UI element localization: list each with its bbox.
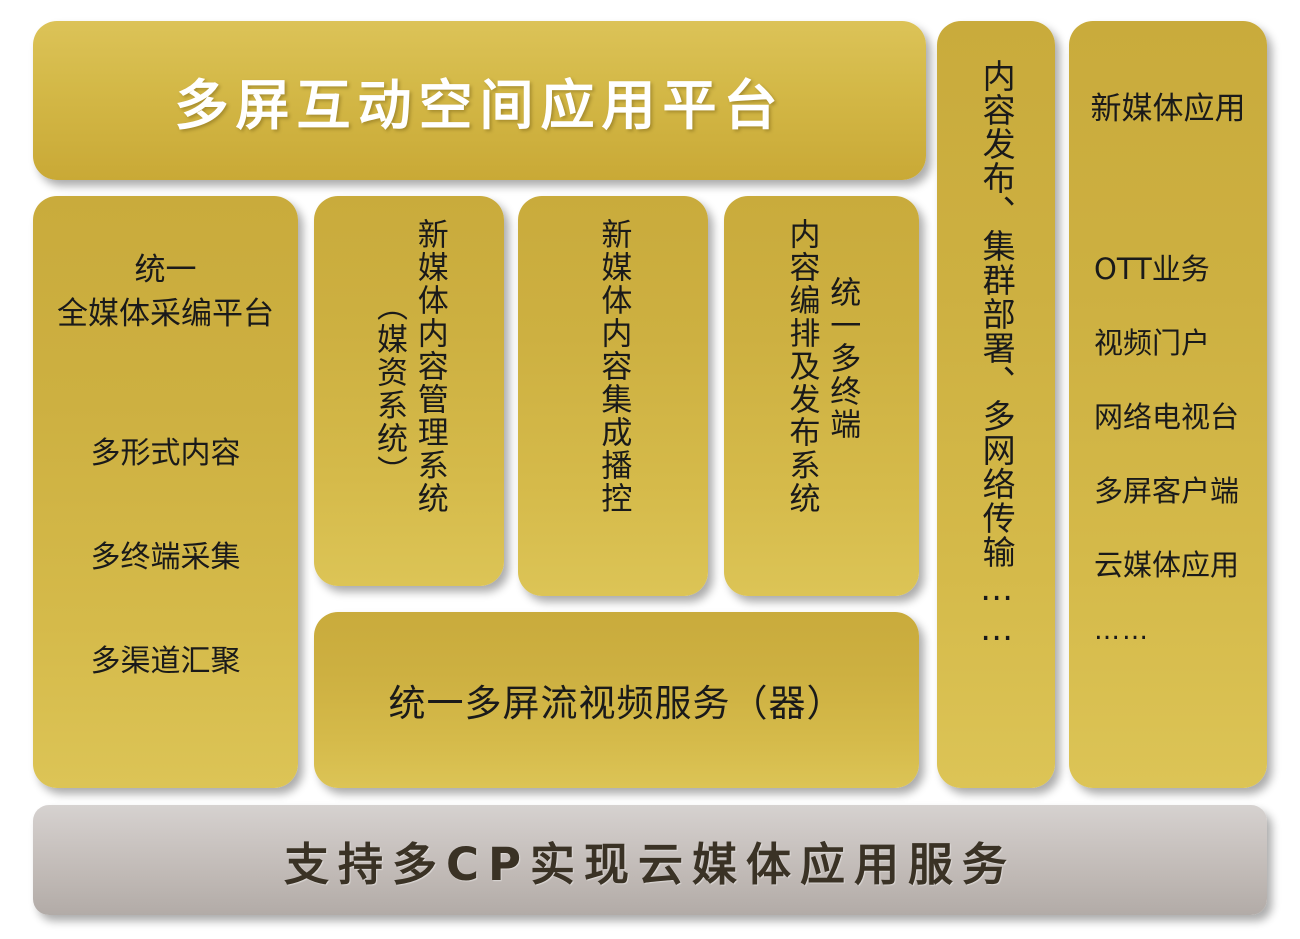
footer-bar-label: 支持多CP实现云媒体应用服务	[284, 828, 1016, 893]
list-item: 云媒体应用	[1094, 542, 1239, 584]
acquisition-heading-line-1: 统一	[57, 248, 274, 292]
acquisition-column-panel: 统一 全媒体采编平台 多形式内容 多终端采集 多渠道汇聚	[33, 196, 298, 788]
list-item: 多渠道汇聚	[91, 636, 241, 680]
list-item: 网络电视台	[1094, 394, 1239, 436]
title-banner: 多屏互动空间应用平台	[33, 21, 926, 180]
list-item: 多形式内容	[91, 428, 241, 472]
streaming-service-label: 统一多屏流视频服务（器）	[389, 673, 845, 727]
publish-panel: 内容编排及发布系统 统一多终端	[724, 196, 919, 596]
list-item: 视频门户	[1094, 320, 1210, 362]
applications-item-list: OTT业务 视频门户 网络电视台 多屏客户端 云媒体应用 ……	[1094, 246, 1242, 646]
list-item: 多屏客户端	[1094, 468, 1239, 510]
publish-panel-primary-label: 内容编排及发布系统	[784, 218, 819, 515]
acquisition-heading-line-2: 全媒体采编平台	[57, 292, 274, 336]
delivery-column-label: 内容发布、集群部署、多网络传输……	[978, 59, 1014, 649]
applications-column-panel: 新媒体应用 OTT业务 视频门户 网络电视台 多屏客户端 云媒体应用 ……	[1069, 21, 1267, 788]
publish-panel-secondary-label: 统一多终端	[825, 276, 860, 441]
cms-panel-secondary-label: （媒资系统）	[371, 290, 406, 488]
diagram-canvas: 多屏互动空间应用平台 统一 全媒体采编平台 多形式内容 多终端采集 多渠道汇聚 …	[0, 0, 1300, 939]
delivery-column-panel: 内容发布、集群部署、多网络传输……	[937, 21, 1055, 788]
cms-panel-primary-label: 新媒体内容管理系统	[412, 218, 447, 515]
list-item: OTT业务	[1094, 246, 1210, 288]
list-item: 多终端采集	[91, 532, 241, 576]
list-item-ellipsis: ……	[1094, 616, 1150, 646]
broadcast-panel-primary-label: 新媒体内容集成播控	[596, 218, 631, 515]
broadcast-panel: 新媒体内容集成播控	[518, 196, 708, 596]
acquisition-column-heading: 统一 全媒体采编平台	[57, 248, 274, 336]
title-banner-label: 多屏互动空间应用平台	[175, 61, 785, 140]
applications-column-heading: 新媒体应用	[1091, 83, 1246, 128]
acquisition-item-list: 多形式内容 多终端采集 多渠道汇聚	[91, 428, 241, 680]
cms-panel: 新媒体内容管理系统 （媒资系统）	[314, 196, 504, 586]
footer-bar: 支持多CP实现云媒体应用服务	[33, 805, 1267, 915]
streaming-service-panel: 统一多屏流视频服务（器）	[314, 612, 919, 788]
